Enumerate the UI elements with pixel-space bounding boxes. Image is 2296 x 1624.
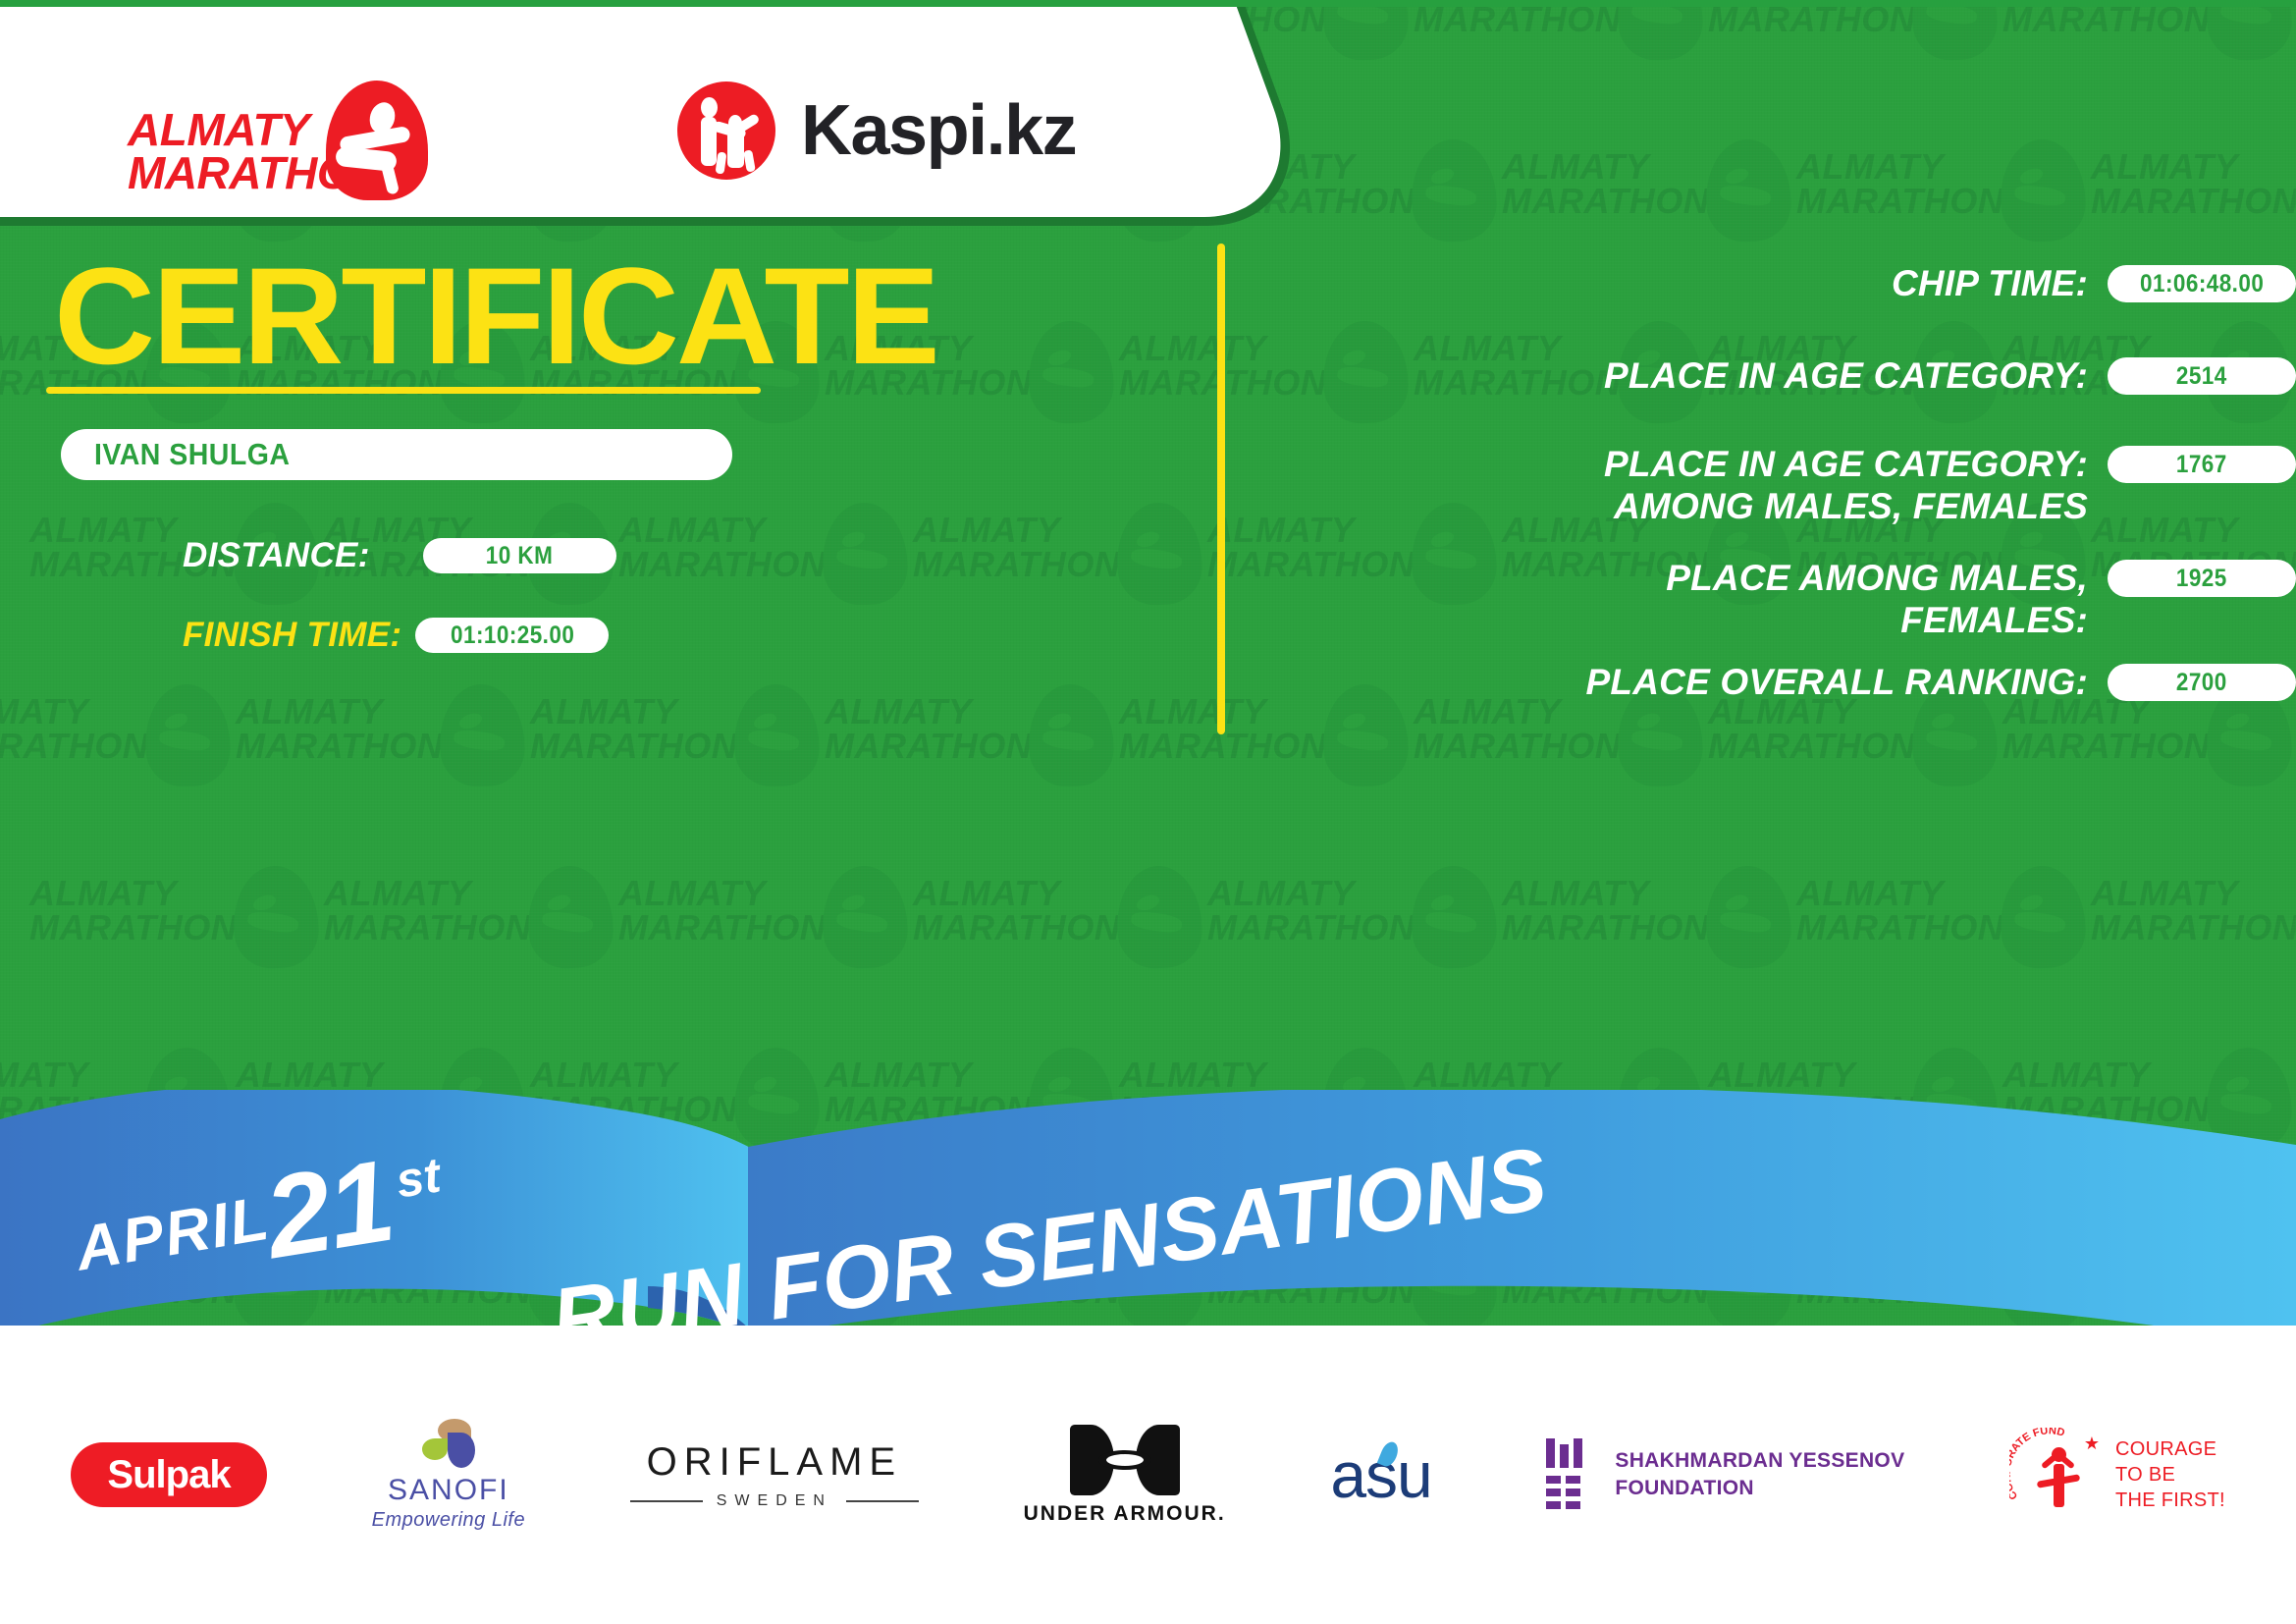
stat-row-place-overall-ranking: PLACE OVERALL RANKING: 2700 [1222, 662, 2296, 704]
stat-label: PLACE IN AGE CATEGORY: [1222, 355, 2108, 398]
courage-line-1: COURAGE [2115, 1438, 2216, 1460]
ribbon-day: 21 [256, 1134, 400, 1285]
courage-line-2: TO BE [2115, 1464, 2175, 1486]
runner-drop-icon [326, 81, 428, 200]
stat-value-pill: 01:06:48.00 [2108, 265, 2296, 302]
stat-row-chip-time: CHIP TIME: 01:06:48.00 [1222, 263, 2296, 305]
stat-value: 2514 [2176, 362, 2227, 391]
sanofi-wordmark: SANOFI [388, 1474, 509, 1507]
stat-label-line-2: FEMALES: [1900, 600, 2088, 640]
sponsor-yessenov-foundation: SHAKHMARDAN YESSENOV FOUNDATION [1536, 1416, 1904, 1534]
page-title: CERTIFICATE [54, 247, 937, 385]
finish-time-value-pill: 01:10:25.00 [415, 618, 609, 653]
oriflame-wordmark: ORIFLAME [647, 1440, 902, 1485]
stat-label: CHIP TIME: [1222, 263, 2108, 305]
certificate-stats-column: CHIP TIME: 01:06:48.00 PLACE IN AGE CATE… [1222, 0, 2296, 1319]
distance-label: DISTANCE: [183, 536, 370, 575]
oriflame-rule-left [630, 1500, 703, 1502]
sulpak-logo: Sulpak [71, 1442, 267, 1507]
stat-label: PLACE IN AGE CATEGORY: AMONG MALES, FEMA… [1222, 444, 2108, 528]
courage-line-3: THE FIRST! [2115, 1489, 2225, 1511]
under-armour-wordmark: UNDER ARMOUR. [1024, 1502, 1226, 1526]
under-armour-icon [1070, 1425, 1180, 1495]
finish-time-value: 01:10:25.00 [451, 622, 574, 650]
oriflame-country: SWEDEN [717, 1492, 832, 1510]
stat-value-pill: 1767 [2108, 446, 2296, 483]
stat-label-line-2: AMONG MALES, FEMALES [1614, 486, 2088, 526]
kaspi-wordmark: Kaspi.kz [801, 90, 1076, 171]
stat-value: 1925 [2176, 565, 2227, 593]
stat-value-pill: 2700 [2108, 664, 2296, 701]
oriflame-rule-right [846, 1500, 919, 1502]
sponsor-sulpak: Sulpak [71, 1416, 267, 1534]
courage-figure-icon [2043, 1447, 2072, 1510]
sponsor-oriflame: ORIFLAME SWEDEN [630, 1416, 919, 1534]
distance-row: DISTANCE: 10 KM [183, 536, 616, 575]
sponsor-asu: asu [1330, 1416, 1431, 1534]
yessenov-line-1: SHAKHMARDAN YESSENOV [1615, 1449, 1904, 1472]
courage-wordmark: COURAGE TO BE THE FIRST! [2115, 1436, 2225, 1513]
asu-logo: asu [1330, 1437, 1431, 1512]
stat-label-line-1: PLACE AMONG MALES, [1666, 558, 2088, 598]
distance-value: 10 KM [486, 542, 554, 570]
finish-time-row: FINISH TIME: 01:10:25.00 [183, 616, 609, 655]
stat-value-pill: 1925 [2108, 560, 2296, 597]
kaspi-people-icon [677, 81, 775, 180]
stat-value-pill: 2514 [2108, 357, 2296, 395]
courage-star-icon: ★ [2084, 1434, 2100, 1454]
stat-label-line-1: PLACE IN AGE CATEGORY: [1604, 444, 2088, 484]
oriflame-sub-row: SWEDEN [630, 1492, 919, 1510]
stat-value: 2700 [2176, 669, 2227, 697]
stat-value: 01:06:48.00 [2140, 270, 2264, 298]
stat-label: PLACE AMONG MALES, FEMALES: [1222, 558, 2108, 642]
participant-name-value: IVAN SHULGA [94, 437, 290, 472]
yessenov-wordmark: SHAKHMARDAN YESSENOV FOUNDATION [1615, 1447, 1904, 1503]
title-divider [46, 387, 761, 394]
sponsor-courage-fund: CORPORATE FUND ★ COURAGE TO BE THE FIRST… [2009, 1416, 2225, 1534]
sanofi-tagline: Empowering Life [372, 1509, 525, 1532]
finish-time-label: FINISH TIME: [183, 616, 401, 655]
sulpak-wordmark: Sulpak [107, 1453, 230, 1497]
sponsor-bar: Sulpak SANOFI Empowering Life ORIFLAME S… [0, 1326, 2296, 1624]
sponsor-sanofi: SANOFI Empowering Life [372, 1416, 525, 1534]
column-divider [1217, 244, 1225, 734]
sanofi-icon [418, 1419, 479, 1468]
sponsor-under-armour: UNDER ARMOUR. [1024, 1416, 1226, 1534]
distance-value-pill: 10 KM [423, 538, 616, 573]
top-accent-strip [0, 0, 2296, 7]
certificate-canvas: ALMATYMARATHONALMATYMARATHONALMATYMARATH… [0, 0, 2296, 1624]
courage-fund-icon: CORPORATE FUND ★ [2009, 1428, 2104, 1522]
ribbon-ordinal: st [392, 1146, 444, 1209]
stat-value: 1767 [2176, 451, 2227, 479]
stat-row-place-age-category: PLACE IN AGE CATEGORY: 2514 [1222, 355, 2296, 398]
yessenov-icon [1536, 1438, 1591, 1511]
almaty-marathon-logo: ALMATY MARATHON [128, 81, 452, 203]
stat-row-place-age-category-among: PLACE IN AGE CATEGORY: AMONG MALES, FEMA… [1222, 444, 2296, 528]
kaspi-logo: Kaspi.kz [677, 77, 1076, 185]
yessenov-line-2: FOUNDATION [1615, 1477, 1753, 1499]
participant-name-field: IVAN SHULGA [61, 429, 732, 480]
stat-row-place-among-males-females: PLACE AMONG MALES, FEMALES: 1925 [1222, 558, 2296, 642]
stat-label: PLACE OVERALL RANKING: [1222, 662, 2108, 704]
